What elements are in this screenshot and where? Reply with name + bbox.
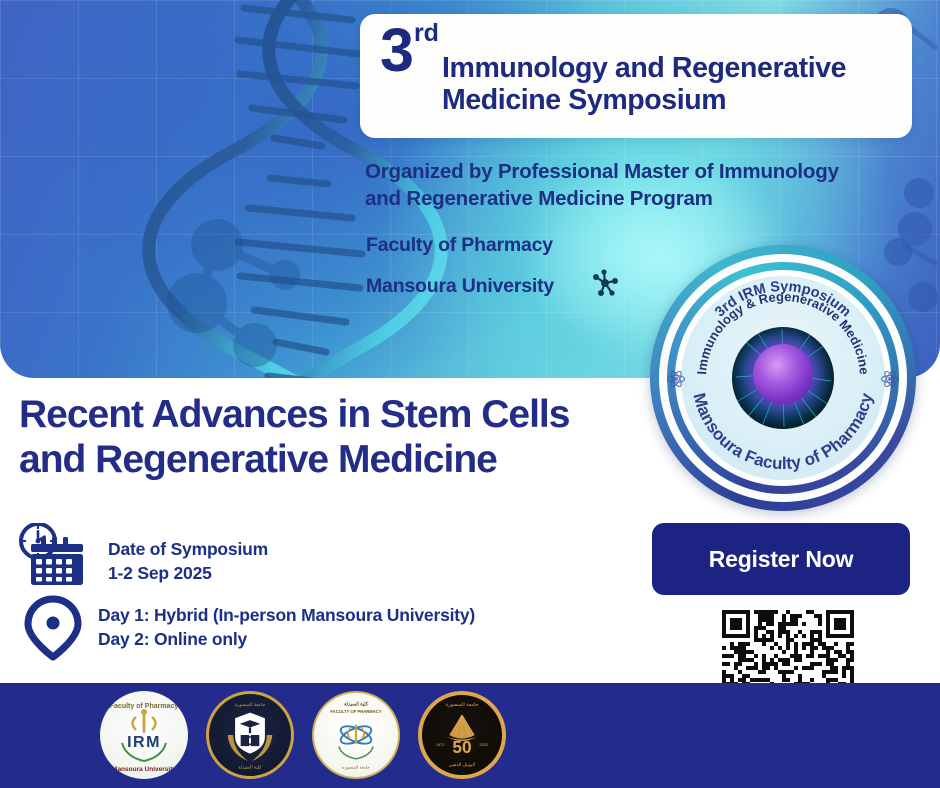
date-label: Date of Symposium [108,538,268,562]
organized-by-line-2: and Regenerative Medicine Program [365,185,920,212]
logo4-arabic-bottom: اليوبيل الذهبي [449,762,475,768]
logo1-top-text: Faculty of Pharmacy [110,703,179,710]
title-line-2: Medicine Symposium [442,84,896,116]
logo3-arabic-bottom: جامعة المنصورة [342,764,370,769]
faculty-name: Faculty of Pharmacy [366,234,553,257]
badge-cell-image [732,327,834,429]
logo4-year-left: 1972 [436,742,446,747]
molecule-background-icon [165,215,325,378]
symposium-badge-logo: 3rd IRM Symposium Immunology & Regenerat… [650,245,916,511]
logo4-year-right: 2022 [479,742,489,747]
footer-logo-strip: Faculty of Pharmacy IRM Mansoura Univers… [0,683,940,788]
atom-icon-right [880,369,900,389]
logo1-center-text: IRM [127,734,161,751]
organized-by-text: Organized by Professional Master of Immu… [365,158,920,212]
symposium-title-card: 3rd Immunology and Regenerative Medicine… [360,14,912,138]
logo3-top-text: FACULTY OF PHARMACY [330,709,381,714]
calendar-clock-icon [18,523,94,589]
logo2-arabic-top: جامعة المنصورة [235,702,266,708]
university-name: Mansoura University [366,275,554,298]
logo-irm-mansoura-pharmacy: Faculty of Pharmacy IRM Mansoura Univers… [100,691,188,779]
date-info-row: Date of Symposium 1-2 Sep 2025 [18,523,268,589]
logo4-center-text: 50 [452,737,471,757]
edition-number: 3 [380,22,412,80]
location-day2: Day 2: Online only [98,628,475,652]
edition-ordinal: rd [414,22,439,46]
logo4-arabic-top: جامعة المنصورة [445,702,478,708]
title-line-1: Immunology and Regenerative [442,52,896,84]
organized-by-line-1: Organized by Professional Master of Immu… [365,158,920,185]
logo-professional-master-seal: جامعة المنصورة كلية الصيدلة [206,691,294,779]
page-title: Recent Advances in Stem Cells and Regene… [19,392,639,482]
location-pin-icon [22,595,84,661]
atom-icon-left [666,369,686,389]
logo3-arabic-top: كلية الصيدلة [344,701,369,707]
headline-line-2: and Regenerative Medicine [19,437,639,482]
date-value: 1-2 Sep 2025 [108,562,268,586]
headline-line-1: Recent Advances in Stem Cells [19,392,639,437]
logo-faculty-pharmacy-society: كلية الصيدلة FACULTY OF PHARMACY جامعة ا… [312,691,400,779]
logo1-bottom-text: Mansoura University [112,766,176,773]
logo-golden-jubilee-seal: جامعة المنصورة 50 1972 2022 اليوبيل الذه… [418,691,506,779]
register-now-button[interactable]: Register Now [652,523,910,595]
logo2-arabic-bottom: كلية الصيدلة [238,765,262,770]
small-molecule-icon [588,268,622,302]
location-day1: Day 1: Hybrid (In-person Mansoura Univer… [98,604,475,628]
location-info-row: Day 1: Hybrid (In-person Mansoura Univer… [22,595,475,661]
